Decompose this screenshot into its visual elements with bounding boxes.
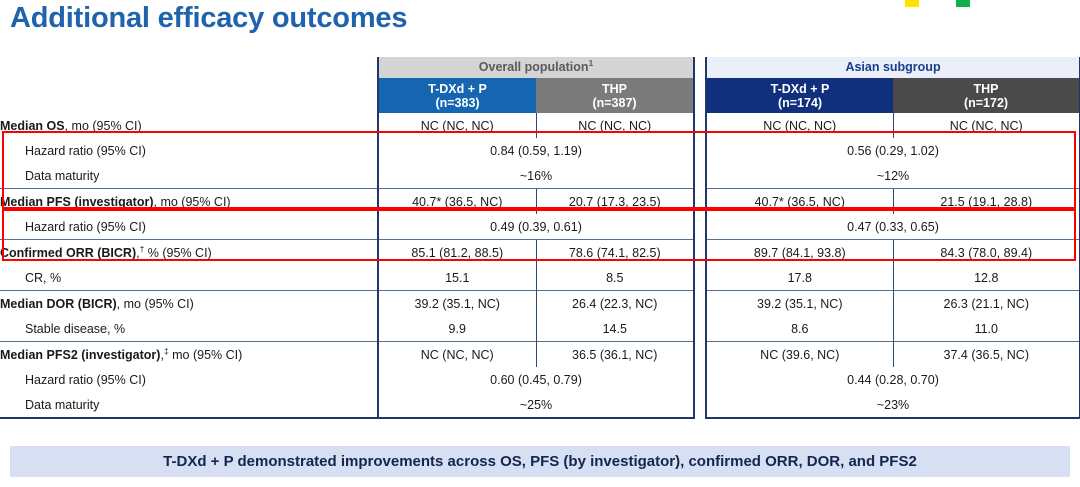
table-body: Median OS, mo (95% CI)NC (NC, NC)NC (NC,…	[0, 113, 1080, 418]
table-row: Data maturity~25%~23%	[0, 392, 1080, 418]
logo-green-square	[956, 0, 970, 7]
row-label: Hazard ratio (95% CI)	[0, 138, 378, 163]
cell-asian-tdxd: 40.7* (36.5, NC)	[706, 189, 893, 215]
arm-header-thp-overall: THP (n=387)	[536, 78, 694, 113]
row-label: CR, %	[0, 265, 378, 291]
cell-overall-merged: 0.60 (0.45, 0.79)	[378, 367, 694, 392]
row-gap	[694, 240, 706, 266]
table-row: Hazard ratio (95% CI)0.60 (0.45, 0.79)0.…	[0, 367, 1080, 392]
cell-overall-merged: 0.84 (0.59, 1.19)	[378, 138, 694, 163]
arm-header-tdxd-overall-n: (n=383)	[379, 96, 536, 110]
row-label: Data maturity	[0, 392, 378, 418]
cell-overall-tdxd: 40.7* (36.5, NC)	[378, 189, 536, 215]
table-row: Median OS, mo (95% CI)NC (NC, NC)NC (NC,…	[0, 113, 1080, 138]
cell-asian-tdxd: NC (39.6, NC)	[706, 342, 893, 368]
cell-overall-tdxd: NC (NC, NC)	[378, 113, 536, 138]
row-gap	[694, 316, 706, 342]
table-row: Median PFS2 (investigator),‡ mo (95% CI)…	[0, 342, 1080, 368]
cell-asian-thp: 37.4 (36.5, NC)	[893, 342, 1080, 368]
table-row: CR, %15.18.517.812.8	[0, 265, 1080, 291]
group-gap-2	[694, 78, 706, 113]
cell-asian-merged: 0.47 (0.33, 0.65)	[706, 214, 1080, 240]
row-gap	[694, 265, 706, 291]
row-gap	[694, 392, 706, 418]
arm-header-thp-asian: THP (n=172)	[893, 78, 1080, 113]
header-empty-corner-2	[0, 78, 378, 113]
cell-asian-tdxd: 17.8	[706, 265, 893, 291]
arm-header-thp-overall-name: THP	[536, 82, 693, 96]
row-label-metric: Median OS	[0, 119, 65, 133]
arm-header-tdxd-asian: T-DXd + P (n=174)	[706, 78, 893, 113]
cell-asian-merged: 0.44 (0.28, 0.70)	[706, 367, 1080, 392]
row-label-footnote-marker: †	[140, 243, 145, 253]
row-gap	[694, 214, 706, 240]
row-label: Median PFS2 (investigator),‡ mo (95% CI)	[0, 342, 378, 368]
table-row: Median DOR (BICR), mo (95% CI)39.2 (35.1…	[0, 291, 1080, 317]
row-label: Data maturity	[0, 163, 378, 189]
summary-banner: T-DXd + P demonstrated improvements acro…	[10, 446, 1070, 477]
row-label-footnote-marker: ‡	[164, 345, 169, 355]
table-row: Confirmed ORR (BICR),† % (95% CI)85.1 (8…	[0, 240, 1080, 266]
cell-asian-thp: 26.3 (21.1, NC)	[893, 291, 1080, 317]
efficacy-table-container: Overall population1 Asian subgroup T-DXd…	[0, 57, 1080, 435]
row-gap	[694, 367, 706, 392]
cell-asian-thp: NC (NC, NC)	[893, 113, 1080, 138]
row-gap	[694, 163, 706, 189]
header-empty-corner	[0, 57, 378, 78]
cell-overall-thp: 36.5 (36.1, NC)	[536, 342, 694, 368]
header-group-row: Overall population1 Asian subgroup	[0, 57, 1080, 78]
cell-asian-thp: 11.0	[893, 316, 1080, 342]
cell-asian-thp: 84.3 (78.0, 89.4)	[893, 240, 1080, 266]
row-gap	[694, 291, 706, 317]
row-label-metric: Confirmed ORR (BICR)	[0, 246, 136, 260]
group-header-overall: Overall population1	[378, 57, 694, 78]
table-row: Hazard ratio (95% CI)0.49 (0.39, 0.61)0.…	[0, 214, 1080, 240]
cell-overall-merged: ~25%	[378, 392, 694, 418]
arm-header-tdxd-overall-name: T-DXd + P	[379, 82, 536, 96]
row-label-metric: Median PFS2 (investigator)	[0, 348, 160, 362]
cell-asian-merged: ~23%	[706, 392, 1080, 418]
cell-asian-tdxd: NC (NC, NC)	[706, 113, 893, 138]
arm-header-tdxd-asian-name: T-DXd + P	[707, 82, 893, 96]
cell-overall-thp: NC (NC, NC)	[536, 113, 694, 138]
cell-overall-merged: ~16%	[378, 163, 694, 189]
row-gap	[694, 342, 706, 368]
table-row: Stable disease, %9.914.58.611.0	[0, 316, 1080, 342]
group-gap	[694, 57, 706, 78]
cell-overall-thp: 14.5	[536, 316, 694, 342]
arm-header-tdxd-asian-n: (n=174)	[707, 96, 893, 110]
cell-overall-tdxd: 39.2 (35.1, NC)	[378, 291, 536, 317]
cell-overall-thp: 78.6 (74.1, 82.5)	[536, 240, 694, 266]
arm-header-tdxd-overall: T-DXd + P (n=383)	[378, 78, 536, 113]
logo-yellow-square	[905, 0, 919, 7]
cell-overall-tdxd: NC (NC, NC)	[378, 342, 536, 368]
cell-asian-merged: 0.56 (0.29, 1.02)	[706, 138, 1080, 163]
row-gap	[694, 113, 706, 138]
cell-asian-tdxd: 8.6	[706, 316, 893, 342]
cell-overall-thp: 20.7 (17.3, 23.5)	[536, 189, 694, 215]
arm-header-thp-asian-n: (n=172)	[893, 96, 1079, 110]
group-header-overall-label: Overall population	[479, 60, 589, 74]
cell-overall-tdxd: 9.9	[378, 316, 536, 342]
cell-asian-merged: ~12%	[706, 163, 1080, 189]
row-label-metric: Median PFS (investigator)	[0, 195, 154, 209]
efficacy-table: Overall population1 Asian subgroup T-DXd…	[0, 57, 1080, 419]
row-label: Hazard ratio (95% CI)	[0, 214, 378, 240]
table-row: Data maturity~16%~12%	[0, 163, 1080, 189]
cell-overall-tdxd: 15.1	[378, 265, 536, 291]
row-label: Stable disease, %	[0, 316, 378, 342]
row-gap	[694, 138, 706, 163]
table-row: Hazard ratio (95% CI)0.84 (0.59, 1.19)0.…	[0, 138, 1080, 163]
brand-logo-fragment	[880, 0, 1010, 8]
arm-header-thp-asian-name: THP	[893, 82, 1079, 96]
header-arm-row: T-DXd + P (n=383) THP (n=387) T-DXd + P …	[0, 78, 1080, 113]
cell-overall-tdxd: 85.1 (81.2, 88.5)	[378, 240, 536, 266]
row-label: Median OS, mo (95% CI)	[0, 113, 378, 138]
cell-overall-thp: 26.4 (22.3, NC)	[536, 291, 694, 317]
row-label-metric: Median DOR (BICR)	[0, 297, 117, 311]
page-title: Additional efficacy outcomes	[10, 2, 407, 35]
cell-asian-tdxd: 39.2 (35.1, NC)	[706, 291, 893, 317]
row-gap	[694, 189, 706, 215]
cell-asian-thp: 21.5 (19.1, 28.8)	[893, 189, 1080, 215]
table-header: Overall population1 Asian subgroup T-DXd…	[0, 57, 1080, 113]
group-header-overall-footnote: 1	[589, 58, 594, 68]
cell-overall-merged: 0.49 (0.39, 0.61)	[378, 214, 694, 240]
row-label: Confirmed ORR (BICR),† % (95% CI)	[0, 240, 378, 266]
row-label: Hazard ratio (95% CI)	[0, 367, 378, 392]
group-header-asian: Asian subgroup	[706, 57, 1080, 78]
table-row: Median PFS (investigator), mo (95% CI)40…	[0, 189, 1080, 215]
cell-asian-thp: 12.8	[893, 265, 1080, 291]
cell-asian-tdxd: 89.7 (84.1, 93.8)	[706, 240, 893, 266]
arm-header-thp-overall-n: (n=387)	[536, 96, 693, 110]
row-label: Median PFS (investigator), mo (95% CI)	[0, 189, 378, 215]
cell-overall-thp: 8.5	[536, 265, 694, 291]
row-label: Median DOR (BICR), mo (95% CI)	[0, 291, 378, 317]
